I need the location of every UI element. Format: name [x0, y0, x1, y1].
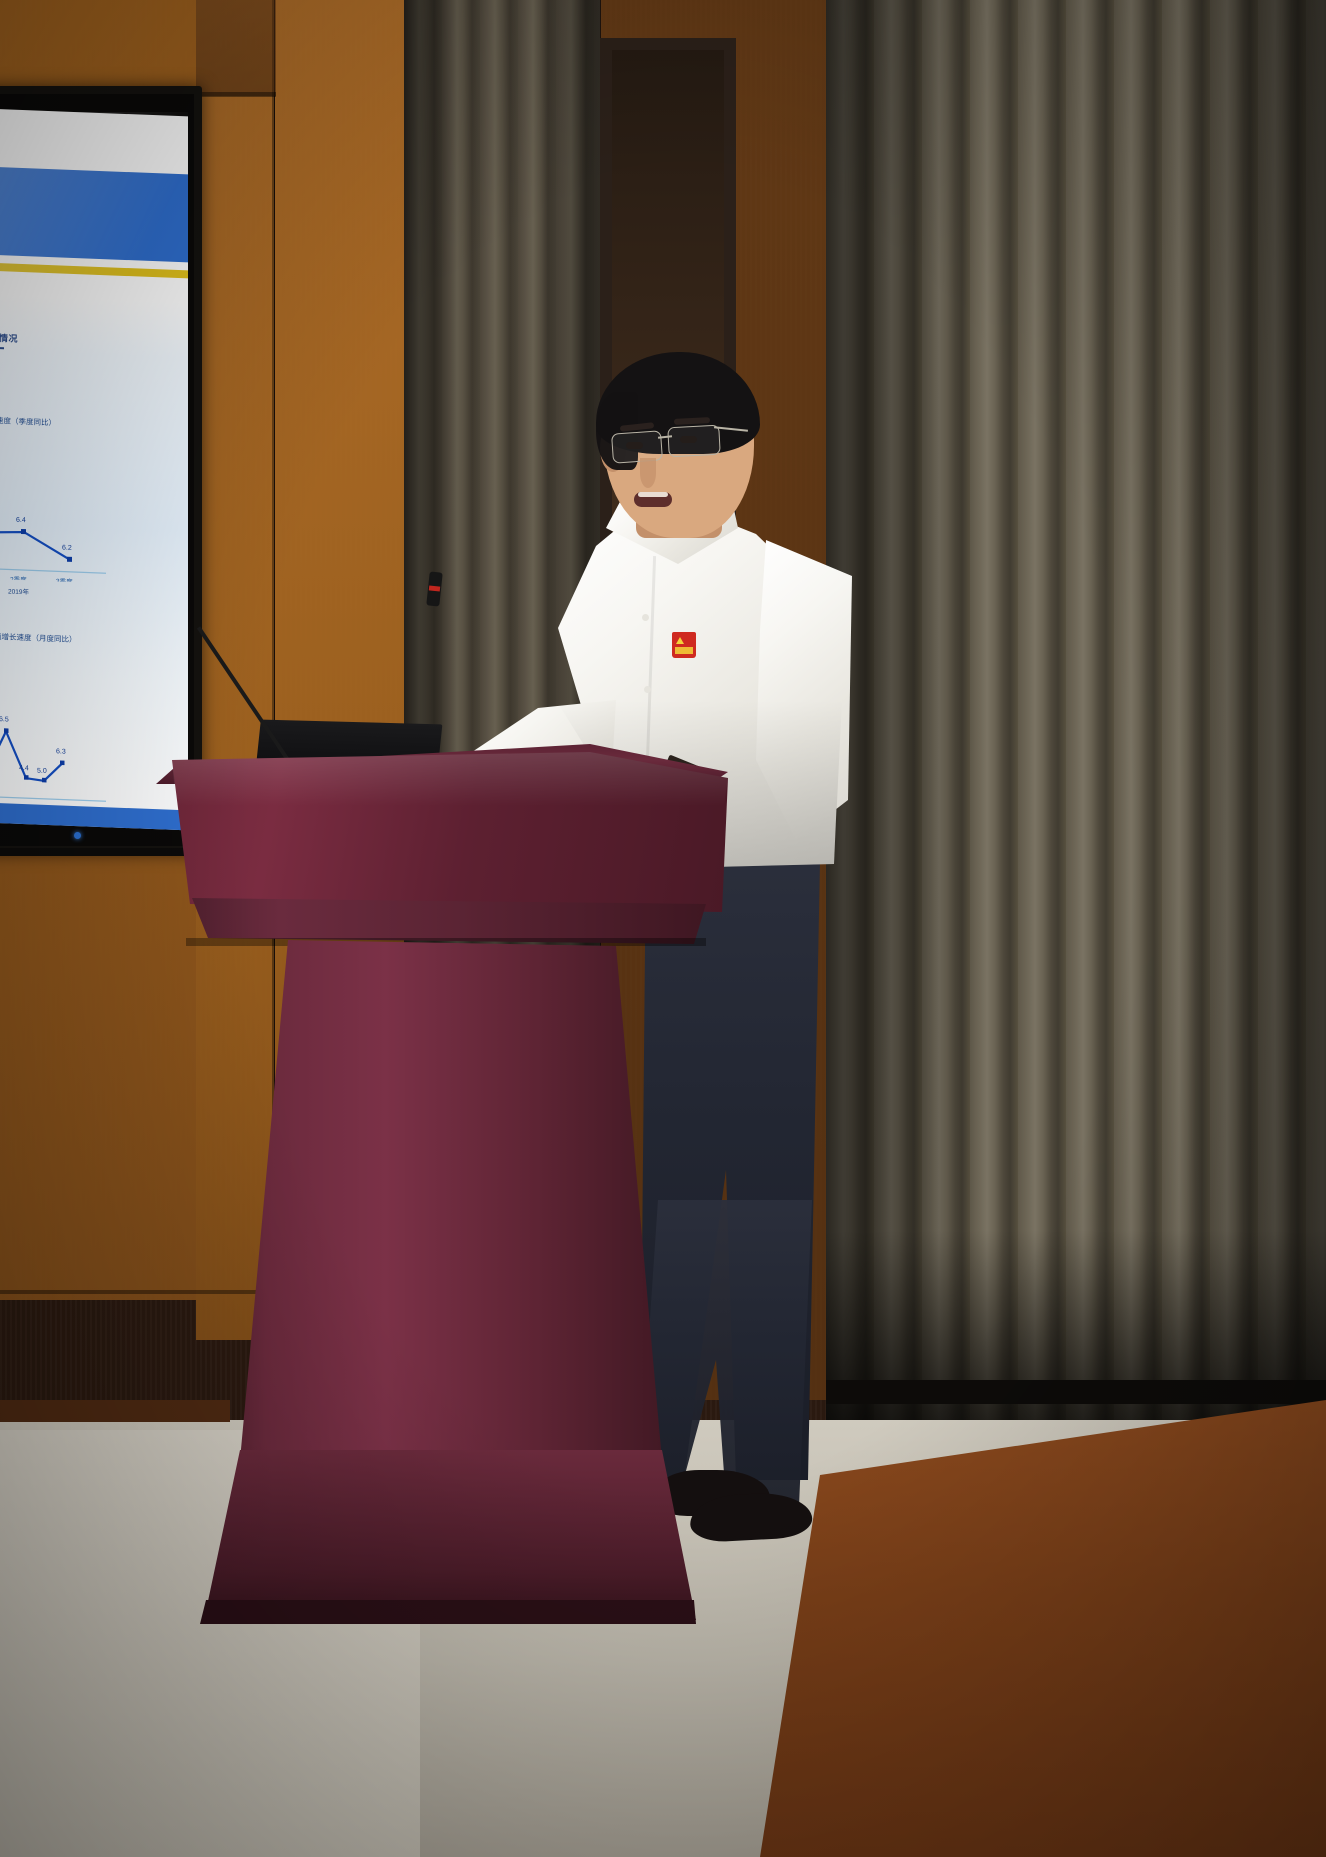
wall-panel-top-shadow: [196, 0, 276, 96]
presentation-slide: 国民经济运行情况 国内生产总值增长速度（季度同比） 6.4 6.4 6.2 1季…: [0, 108, 188, 831]
curtain-hem: [826, 1380, 1326, 1404]
shirt-button-1: [642, 614, 649, 621]
curtain-main-shading: [826, 0, 1326, 1430]
chart-2-point-4: [4, 728, 9, 733]
chart-2-value-4: 6.5: [0, 716, 9, 723]
eye-right: [680, 436, 697, 443]
chart-1-title: 国内生产总值增长速度（季度同比）: [0, 413, 136, 432]
chart-2-plot: 5.9 6.4 5.7 6.2 6.5 4.4 5.0 6.3 1-2月 3月 …: [0, 654, 148, 823]
chart-2-value-5: 4.4: [19, 765, 29, 772]
chart-2-value-6: 5.0: [37, 768, 47, 775]
badge-star-icon: [676, 637, 684, 644]
chart-1-plot: 6.4 6.4 6.2 1季度 2季度 3季度: [0, 436, 148, 585]
photo-scene: 国民经济运行情况 国内生产总值增长速度（季度同比） 6.4 6.4 6.2 1季…: [0, 0, 1326, 1857]
chart-2-point-7: [60, 760, 65, 765]
slide-heading: 国民经济运行情况: [0, 329, 92, 348]
microphone-indicator: [429, 585, 440, 591]
shirt-button-2: [644, 686, 651, 693]
chart-1-xtick-2: 3季度: [56, 576, 73, 585]
slide-accent-rule: [0, 260, 188, 279]
chart-2-series: [0, 728, 62, 781]
chart-1-xlabel: 2019年: [8, 585, 29, 596]
slide-header-band: [0, 164, 188, 263]
wall-skirting: [0, 1400, 230, 1422]
eye-left: [626, 442, 643, 449]
teeth: [638, 492, 668, 497]
slide-heading-underline: [0, 345, 4, 349]
chart-2-title: 规模以上工业增加值增长速度（月度同比）: [0, 629, 154, 648]
wall-horizontal-joint-low: [0, 1290, 276, 1294]
chart-2-point-6: [42, 778, 47, 783]
chart-1-value-1: 6.4: [16, 517, 26, 524]
chart-2-value-7: 6.3: [56, 748, 66, 755]
lectern-base: [196, 1450, 696, 1620]
party-emblem-lapel-pin: [672, 632, 696, 658]
chart-1-axis: [0, 566, 106, 573]
chart-1-series: [0, 523, 70, 560]
chart-2-point-5: [24, 775, 29, 780]
chart-1-xtick-1: 2季度: [10, 575, 27, 585]
lectern-base-plinth: [196, 1600, 696, 1624]
chart-2-axis: [0, 794, 106, 801]
display-power-led: [74, 832, 81, 839]
display-lower-edge: [0, 848, 202, 856]
chart-1-point-2: [21, 529, 26, 534]
chart-1-value-2: 6.2: [62, 545, 72, 552]
badge-banner: [675, 647, 693, 654]
wall-panel-left-narrow: [196, 0, 274, 1340]
chart-1-point-3: [67, 557, 72, 562]
nose: [640, 458, 656, 488]
